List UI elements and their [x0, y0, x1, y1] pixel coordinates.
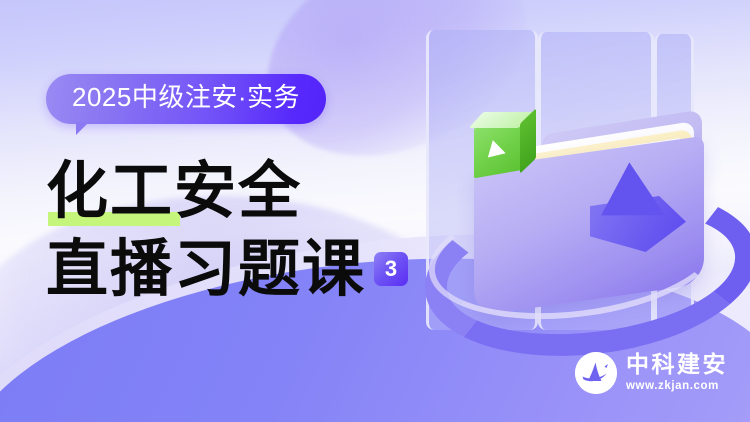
green-play-cube-icon	[474, 112, 536, 174]
course-tag-label: 2025中级注安·实务	[46, 74, 326, 124]
headline: 化工安全 直播习题课3	[46, 156, 466, 306]
episode-badge: 3	[374, 252, 408, 286]
course-banner: 2025中级注安·实务 化工安全 直播习题课3 中科建安 www.zkjan.c…	[0, 0, 750, 422]
title-line-1: 化工安全	[46, 156, 466, 228]
brand-logo: 中科建安 www.zkjan.com	[575, 352, 728, 394]
course-tag: 2025中级注安·实务	[46, 74, 326, 124]
brand-url: www.zkjan.com	[626, 381, 728, 393]
course-tag-tail	[76, 122, 89, 135]
title-line-2: 直播习题课3	[46, 234, 466, 306]
brand-name: 中科建安	[626, 353, 728, 376]
zhongke-jianan-logo-icon	[575, 352, 617, 394]
title-line-1-text: 化工安全	[46, 157, 302, 226]
brand-logo-text: 中科建安 www.zkjan.com	[626, 353, 728, 393]
title-line-2-text: 直播习题课	[46, 235, 366, 304]
